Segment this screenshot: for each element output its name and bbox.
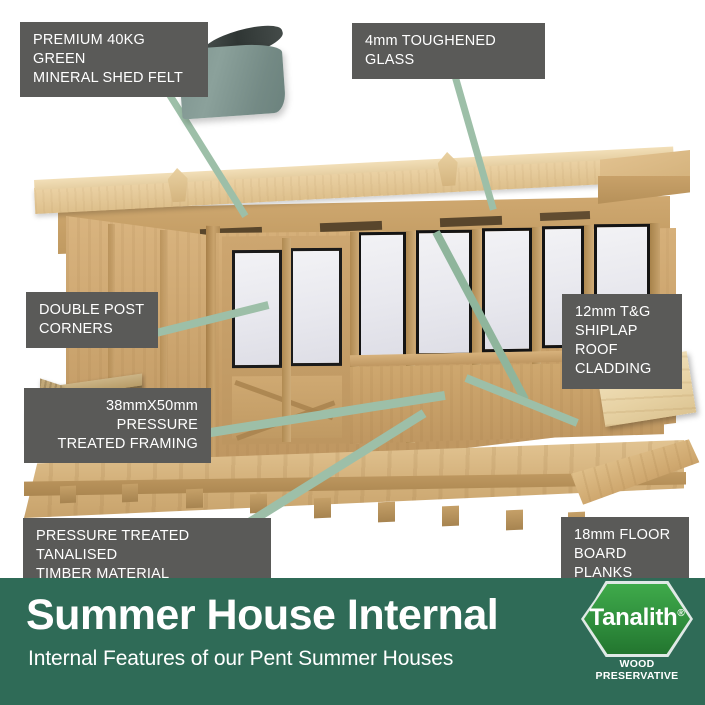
tanalith-tagline: WOOD PRESERVATIVE	[578, 658, 696, 682]
callout-line: BOARD PLANKS	[574, 545, 676, 578]
window-1[interactable]	[358, 232, 406, 359]
door-mullion	[282, 238, 291, 442]
infographic-root: PREMIUM 40KG GREEN MINERAL SHED FELT 4mm…	[0, 0, 705, 705]
summer-house-illustration: PREMIUM 40KG GREEN MINERAL SHED FELT 4mm…	[0, 0, 705, 578]
callout-line: CORNERS	[39, 320, 145, 339]
floor-joist	[186, 489, 203, 509]
callout-line: PREMIUM 40KG GREEN	[33, 31, 195, 69]
callout-line: 12mm T&G	[575, 303, 669, 322]
floor-joist	[122, 484, 138, 503]
floor-joist	[442, 506, 459, 527]
tanalith-logo: Tanalith® WOOD PRESERVATIVE	[578, 582, 696, 682]
callout-tanalised-timber[interactable]: PRESSURE TREATED TANALISED TIMBER MATERI…	[23, 518, 271, 578]
callout-line: MINERAL SHED FELT	[33, 69, 195, 88]
callout-line: 38mmX50mm	[37, 397, 198, 416]
callout-premium-felt[interactable]: PREMIUM 40KG GREEN MINERAL SHED FELT	[20, 22, 208, 97]
tanalith-name: Tanalith	[590, 604, 678, 631]
tanalith-wordmark: Tanalith®	[584, 604, 690, 632]
page-subtitle: Internal Features of our Pent Summer Hou…	[28, 647, 453, 671]
callout-line: TREATED FRAMING	[37, 435, 198, 454]
callout-double-post-corners[interactable]: DOUBLE POST CORNERS	[26, 292, 158, 348]
callout-line: 4mm TOUGHENED GLASS	[365, 32, 532, 70]
callout-line: 18mm FLOOR	[574, 526, 676, 545]
callout-line: PRESSURE	[37, 416, 198, 435]
door-glass-right[interactable]	[290, 248, 342, 366]
callout-floor-board-planks[interactable]: 18mm FLOOR BOARD PLANKS	[561, 517, 689, 578]
callout-line: PRESSURE TREATED TANALISED	[36, 527, 258, 565]
hexagon-badge-icon: Tanalith®	[584, 584, 690, 654]
callout-line: SHIPLAP ROOF	[575, 322, 669, 360]
callout-toughened-glass[interactable]: 4mm TOUGHENED GLASS	[352, 23, 545, 79]
floor-joist	[60, 486, 76, 504]
callout-line: CLADDING	[575, 360, 669, 379]
page-title: Summer House Internal	[26, 594, 498, 637]
callout-shiplap-roof-cladding[interactable]: 12mm T&G SHIPLAP ROOF CLADDING	[562, 294, 682, 389]
floor-joist	[506, 510, 523, 531]
callout-line: DOUBLE POST	[39, 301, 145, 320]
footer-banner: Summer House Internal Internal Features …	[0, 578, 705, 705]
registered-trademark-icon: ®	[677, 608, 684, 619]
floor-joist	[378, 502, 395, 523]
callout-pressure-treated-framing[interactable]: 38mmX50mm PRESSURE TREATED FRAMING	[24, 388, 211, 463]
callout-line: TIMBER MATERIAL THROUGHOUT.	[36, 565, 258, 578]
floor-joist	[314, 498, 331, 519]
